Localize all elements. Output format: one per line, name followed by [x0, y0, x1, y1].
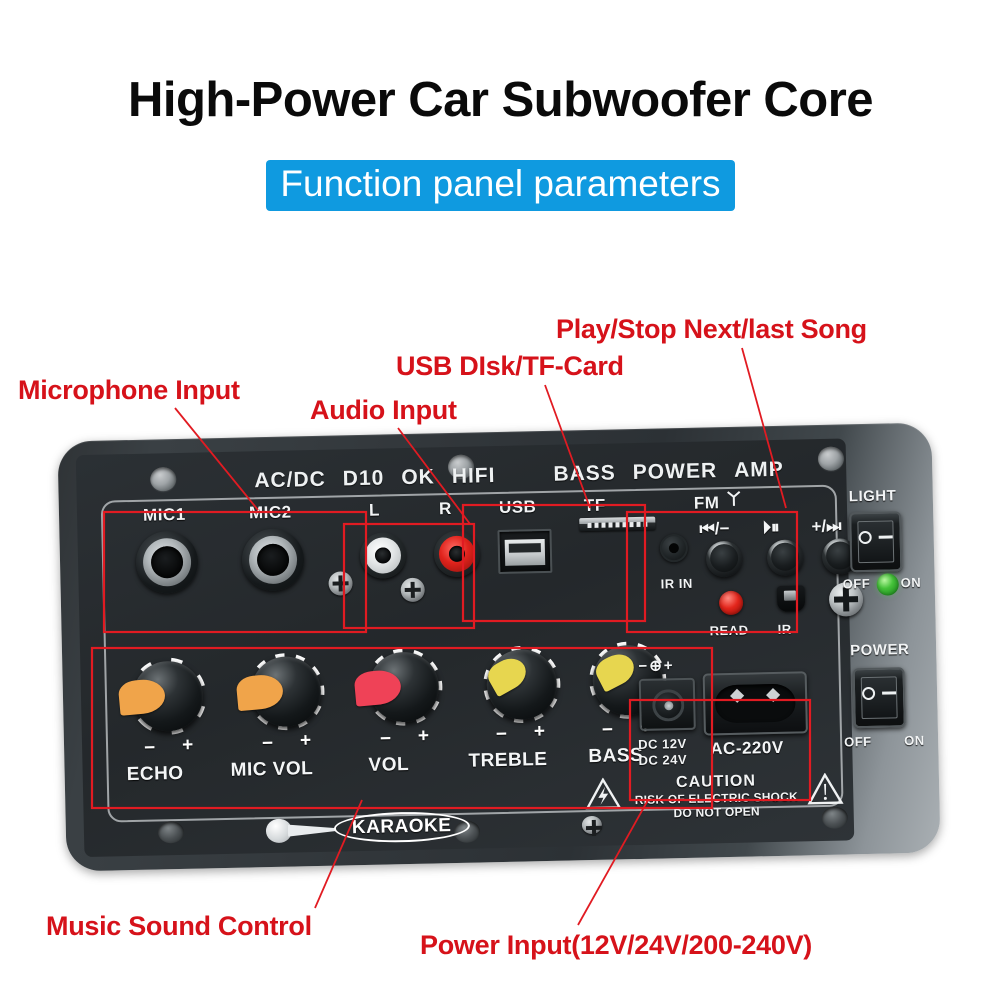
knob-micvol-plus: + [300, 730, 312, 752]
knob-treble-minus: − [496, 724, 508, 746]
knob-echo-plus: + [182, 735, 194, 757]
callout-play-stop-next-last: Play/Stop Next/last Song [556, 314, 867, 345]
label-mic1: MIC1 [143, 505, 186, 526]
ir-sensor-icon [777, 585, 806, 612]
knob-echo-label: ECHO [126, 763, 183, 786]
subtitle-badge: Function panel parameters [266, 160, 734, 211]
light-switch-on-label: ON [901, 575, 922, 590]
label-ir: IR [778, 622, 792, 637]
callout-audio-input: Audio Input [310, 395, 457, 426]
prev-button-glyph: ⏮/− [699, 519, 729, 540]
knob-vol[interactable] [360, 647, 448, 735]
caution-text-block: CAUTION RISK OF ELECTRIC SHOCK DO NOT OP… [621, 771, 812, 821]
light-switch-off-label: OFF [843, 576, 871, 592]
callout-music-sound-control: Music Sound Control [46, 911, 312, 942]
label-ir-in: IR IN [660, 576, 692, 592]
knob-vol-plus: + [418, 726, 430, 748]
power-switch-off-label: OFF [844, 734, 872, 750]
silk-d10: D10 [343, 466, 385, 491]
silk-ok: OK [401, 465, 435, 490]
knob-micvol-minus: − [262, 733, 274, 755]
label-rca-right: R [439, 499, 452, 519]
knob-mic-vol[interactable] [242, 652, 330, 740]
label-mic2: MIC2 [249, 502, 292, 523]
page-title: High-Power Car Subwoofer Core [0, 72, 1001, 128]
knob-vol-label: VOL [368, 754, 409, 777]
play-pause-button-glyph: ⏵⏸ [762, 518, 779, 538]
next-button-glyph: +/⏭ [811, 517, 841, 538]
exclamation-warning-icon [807, 773, 844, 806]
light-switch-title: LIGHT [849, 487, 897, 505]
silk-hifi: HIFI [452, 464, 496, 489]
knob-vol-minus: − [380, 728, 392, 750]
antenna-icon [724, 489, 744, 509]
label-usb: USB [499, 497, 537, 518]
dc-24v-label: DC 24V [638, 752, 687, 768]
power-switch[interactable] [853, 667, 906, 728]
silk-power: POWER [633, 459, 718, 485]
label-fm: FM [694, 493, 720, 514]
callout-power-input: Power Input(12V/24V/200-240V) [420, 930, 812, 961]
infographic-canvas: High-Power Car Subwoofer Core Function p… [0, 0, 1001, 1001]
ac-220v-label: AC-220V [710, 738, 784, 760]
silk-acdc: AC/DC [254, 468, 326, 494]
knob-bass-label: BASS [588, 745, 643, 768]
knob-echo[interactable] [124, 656, 212, 744]
callout-usb-tf-card: USB DIsk/TF-Card [396, 351, 624, 382]
knob-echo-minus: − [144, 738, 156, 760]
subtitle-container: Function panel parameters [0, 160, 1001, 211]
silk-bass: BASS [553, 461, 616, 486]
amplifier-board-panel: AC/DC D10 OK HIFI BASS POWER AMP MIC1 MI… [57, 423, 940, 872]
label-tf: TF [584, 496, 606, 516]
usb-port[interactable] [497, 529, 552, 574]
knob-treble-label: TREBLE [468, 749, 547, 773]
dc-polarity-label: −⊕+ [638, 656, 674, 675]
callout-microphone-input: Microphone Input [18, 375, 240, 406]
light-switch[interactable] [849, 511, 902, 572]
label-rca-left: L [369, 501, 380, 521]
dc-power-jack[interactable] [639, 678, 696, 731]
tf-card-slot[interactable] [579, 517, 655, 532]
knob-bass-minus: − [602, 720, 614, 742]
label-read: READ [710, 623, 749, 639]
knob-treble-plus: + [534, 721, 546, 743]
knob-treble[interactable] [478, 645, 566, 733]
silk-amp: AMP [734, 458, 784, 483]
ac-power-socket[interactable] [703, 671, 808, 735]
power-switch-title: POWER [850, 641, 910, 659]
knob-micvol-label: MIC VOL [230, 758, 313, 782]
power-switch-on-label: ON [904, 733, 925, 748]
dc-12v-label: DC 12V [638, 736, 687, 752]
electric-shock-warning-icon [585, 777, 622, 810]
